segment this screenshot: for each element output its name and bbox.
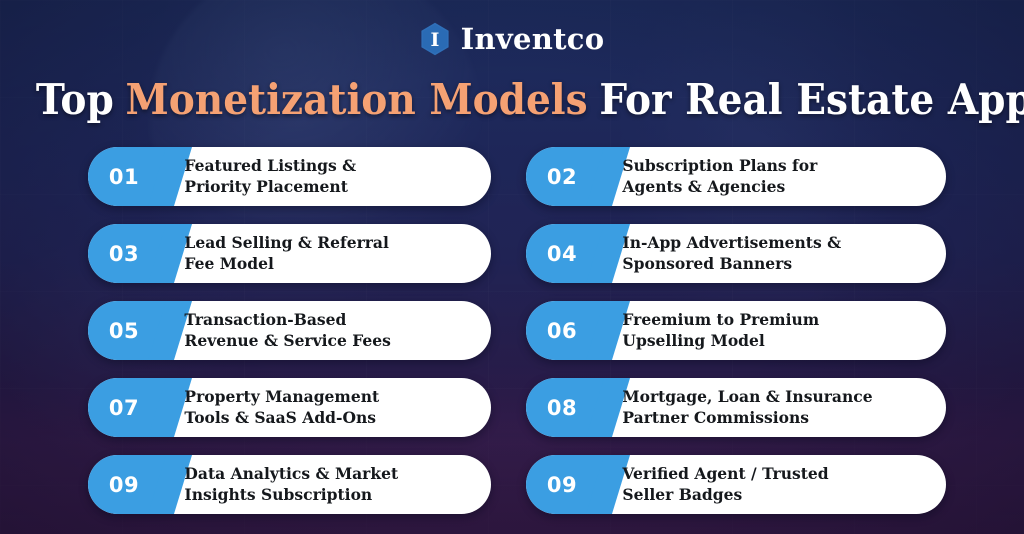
list-item-number: 09 (547, 473, 577, 497)
list-item-number-badge: 08 (526, 378, 604, 437)
list-item[interactable]: 01Featured Listings &Priority Placement (88, 147, 491, 206)
list-item-label-line1: Lead Selling & Referral (184, 233, 388, 252)
list-item-label-line2: Tools & SaaS Add-Ons (184, 408, 379, 429)
list-item-number-badge: 07 (88, 378, 166, 437)
list-item-label-line2: Partner Commissions (622, 408, 872, 429)
list-item[interactable]: 04In-App Advertisements &Sponsored Banne… (526, 224, 946, 283)
list-item-label-line2: Upselling Model (622, 331, 819, 352)
list-item-label-line1: Mortgage, Loan & Insurance (622, 387, 872, 406)
list-item-label-line1: Verified Agent / Trusted (622, 464, 828, 483)
list-item-number: 09 (109, 473, 139, 497)
list-item[interactable]: 05Transaction-BasedRevenue & Service Fee… (88, 301, 491, 360)
list-item-label-line2: Agents & Agencies (622, 177, 817, 198)
list-item-label-line2: Seller Badges (622, 485, 828, 506)
hexagon-i-logo-icon: I (420, 22, 450, 56)
list-item-label-line1: Subscription Plans for (622, 156, 817, 175)
list-item[interactable]: 07Property ManagementTools & SaaS Add-On… (88, 378, 491, 437)
list-item-number: 01 (109, 165, 139, 189)
list-item-label-line1: In-App Advertisements & (622, 233, 841, 252)
list-item-number: 07 (109, 396, 139, 420)
list-item-label: Lead Selling & ReferralFee Model (166, 233, 404, 275)
list-item-number-badge: 03 (88, 224, 166, 283)
list-item-label: Property ManagementTools & SaaS Add-Ons (166, 387, 395, 429)
list-item-label-line2: Sponsored Banners (622, 254, 841, 275)
list-item-number: 08 (547, 396, 577, 420)
list-item-label-line2: Insights Subscription (184, 485, 398, 506)
list-item[interactable]: 02Subscription Plans forAgents & Agencie… (526, 147, 946, 206)
list-item-label-line2: Revenue & Service Fees (184, 331, 390, 352)
list-item-label: Data Analytics & MarketInsights Subscrip… (166, 464, 414, 506)
list-item-label: In-App Advertisements &Sponsored Banners (604, 233, 857, 275)
title-part-1: Top (36, 75, 114, 124)
list-item[interactable]: 08Mortgage, Loan & InsurancePartner Comm… (526, 378, 946, 437)
list-item-number-badge: 04 (526, 224, 604, 283)
list-item[interactable]: 03Lead Selling & ReferralFee Model (88, 224, 491, 283)
list-item[interactable]: 09Verified Agent / TrustedSeller Badges (526, 455, 946, 514)
list-item-number: 03 (109, 242, 139, 266)
title-highlight: Monetization Models (126, 75, 588, 124)
list-item-label-line1: Featured Listings & (184, 156, 356, 175)
list-item-number: 05 (109, 319, 139, 343)
list-item-label-line1: Property Management (184, 387, 379, 406)
list-item-label: Transaction-BasedRevenue & Service Fees (166, 310, 406, 352)
list-item-number-badge: 09 (88, 455, 166, 514)
list-item-number: 04 (547, 242, 577, 266)
list-item-label: Mortgage, Loan & InsurancePartner Commis… (604, 387, 888, 429)
monetization-model-list: 01Featured Listings &Priority Placement0… (88, 147, 946, 514)
list-item-number-badge: 06 (526, 301, 604, 360)
list-item[interactable]: 06Freemium to PremiumUpselling Model (526, 301, 946, 360)
list-item-number-badge: 05 (88, 301, 166, 360)
title-part-2: For Real Estate Apps (599, 75, 1024, 124)
brand-lockup: I Inventco (0, 22, 1024, 56)
svg-text:I: I (430, 29, 439, 51)
list-item-label: Freemium to PremiumUpselling Model (604, 310, 835, 352)
list-item-label-line2: Fee Model (184, 254, 388, 275)
infographic-canvas: I Inventco TopMonetization ModelsFor Rea… (0, 0, 1024, 534)
page-title: TopMonetization ModelsFor Real Estate Ap… (36, 78, 988, 122)
list-item-number: 06 (547, 319, 577, 343)
list-item-label-line1: Freemium to Premium (622, 310, 819, 329)
list-item-label-line2: Priority Placement (184, 177, 356, 198)
list-item-number-badge: 02 (526, 147, 604, 206)
brand-name: Inventco (461, 25, 605, 54)
list-item-label-line1: Transaction-Based (184, 310, 346, 329)
list-item-number: 02 (547, 165, 577, 189)
list-item-number-badge: 09 (526, 455, 604, 514)
list-item-label-line1: Data Analytics & Market (184, 464, 398, 483)
list-item-label: Subscription Plans forAgents & Agencies (604, 156, 833, 198)
list-item-number-badge: 01 (88, 147, 166, 206)
list-item-label: Featured Listings &Priority Placement (166, 156, 372, 198)
list-item-label: Verified Agent / TrustedSeller Badges (604, 464, 844, 506)
list-item[interactable]: 09Data Analytics & MarketInsights Subscr… (88, 455, 491, 514)
